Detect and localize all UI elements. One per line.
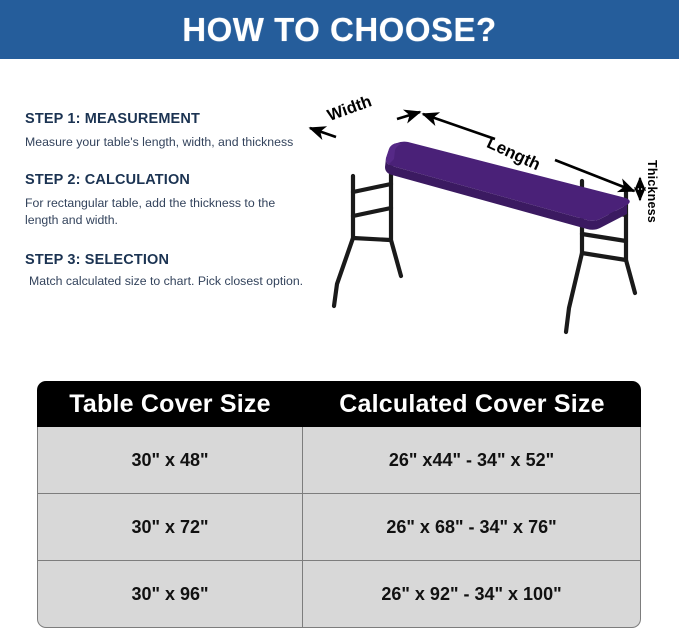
cell-calculated-cover-size: 26" x44" - 34" x 52" <box>303 427 641 494</box>
column-header-calculated-cover-size: Calculated Cover Size <box>303 381 641 427</box>
cell-table-cover-size: 30" x 96" <box>37 561 303 628</box>
cell-table-cover-size: 30" x 48" <box>37 427 303 494</box>
step-item-selection: STEP 3: SELECTION Match calculated size … <box>25 253 325 290</box>
table-row: 30" x 96" 26" x 92" - 34" x 100" <box>37 561 641 628</box>
cell-table-cover-size: 30" x 72" <box>37 494 303 561</box>
table-header-row: Table Cover Size Calculated Cover Size <box>37 381 641 427</box>
step-body: Measure your table's length, width, and … <box>25 134 310 151</box>
steps-section: STEP 1: MEASUREMENT Measure your table's… <box>25 112 325 306</box>
page-title: HOW TO CHOOSE? <box>182 13 496 46</box>
width-dimension-arrow <box>310 112 420 137</box>
column-header-table-cover-size: Table Cover Size <box>37 381 303 427</box>
step-heading: STEP 1: MEASUREMENT <box>25 112 325 128</box>
table-cover-illustration: Width Length Thickness <box>290 88 679 360</box>
step-body: For rectangular table, add the thickness… <box>25 195 310 229</box>
cell-calculated-cover-size: 26" x 68" - 34" x 76" <box>303 494 641 561</box>
table-row: 30" x 48" 26" x44" - 34" x 52" <box>37 427 641 494</box>
thickness-label: Thickness <box>645 160 659 223</box>
table-row: 30" x 72" 26" x 68" - 34" x 76" <box>37 494 641 561</box>
page-header-banner: HOW TO CHOOSE? <box>0 0 679 59</box>
step-item-calculation: STEP 2: CALCULATION For rectangular tabl… <box>25 173 325 229</box>
cell-calculated-cover-size: 26" x 92" - 34" x 100" <box>303 561 641 628</box>
size-chart-table: Table Cover Size Calculated Cover Size 3… <box>37 381 641 628</box>
step-heading: STEP 2: CALCULATION <box>25 173 325 189</box>
step-item-measurement: STEP 1: MEASUREMENT Measure your table's… <box>25 112 325 151</box>
folding-table-drawing <box>290 88 679 360</box>
step-body: Match calculated size to chart. Pick clo… <box>25 273 325 290</box>
step-heading: STEP 3: SELECTION <box>25 253 325 269</box>
